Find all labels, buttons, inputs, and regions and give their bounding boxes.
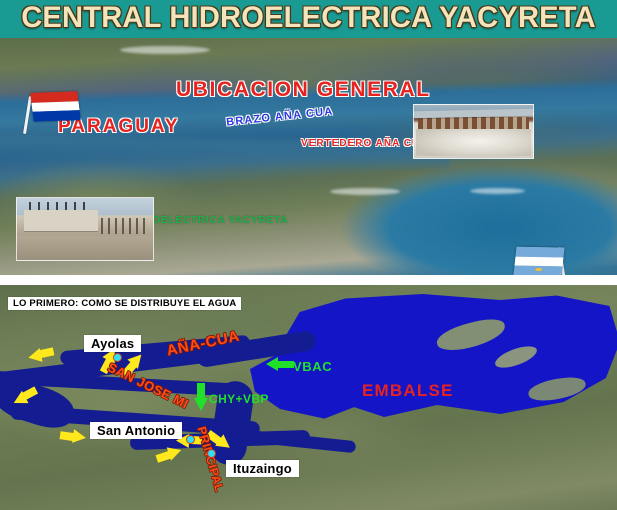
upper-panel-heading: UBICACION GENERAL (176, 78, 431, 102)
argentina-flag-icon (516, 243, 576, 275)
cloud-streak (120, 46, 210, 54)
title-bar: CENTRAL HIDROELECTRICA YACYRETA (0, 0, 617, 38)
slide-canvas: CENTRAL HIDROELECTRICA YACYRETA UBICACIO… (0, 0, 617, 510)
cloud-streak (330, 188, 400, 195)
cloud-streak (470, 188, 525, 194)
paraguay-flag-icon (24, 90, 82, 134)
reservoir-label-embalse: EMBALSE (362, 381, 454, 401)
outlet-arrow-chy-vbp-icon (194, 383, 208, 411)
powerplant-photo-inset (16, 197, 154, 261)
tailrace-water (17, 236, 153, 260)
outlet-label-chy-vbp: CHY+VBP (209, 392, 269, 406)
lower-panel-banner: LO PRIMERO: COMO SE DISTRIBUYE EL AGUA (8, 297, 241, 310)
spillway-gates (418, 117, 529, 129)
city-label-ayolas: Ayolas (84, 335, 141, 352)
city-marker-san-antonio (186, 435, 195, 444)
city-marker-ayolas (113, 353, 122, 362)
panel-separator (0, 275, 617, 285)
feature-label-vertedero-ana-cua: VERTEDERO AÑA CUA (301, 138, 428, 149)
outlet-arrow-vbac-icon (266, 357, 294, 371)
flag-cloth (30, 91, 81, 121)
lower-map-panel: LO PRIMERO: COMO SE DISTRIBUYE EL AGUA A… (0, 285, 617, 510)
page-title: CENTRAL HIDROELECTRICA YACYRETA (9, 1, 607, 35)
flag-cloth (513, 247, 564, 275)
powerhouse-building (24, 210, 98, 231)
sun-of-may-icon (535, 268, 542, 271)
city-label-ituzaingo: Ituzaingo (226, 460, 299, 477)
upper-map-panel: UBICACION GENERAL PARAGUAY ARGENTINA BRA… (0, 38, 617, 275)
flag-pole (23, 96, 31, 134)
city-label-san-antonio: San Antonio (90, 422, 182, 439)
spillway-discharge-foam (416, 129, 531, 156)
transmission-pylons (101, 218, 149, 234)
outlet-label-vbac: VBAC (293, 359, 332, 374)
spillway-photo-inset (413, 104, 534, 159)
city-marker-ituzaingo (207, 449, 216, 458)
